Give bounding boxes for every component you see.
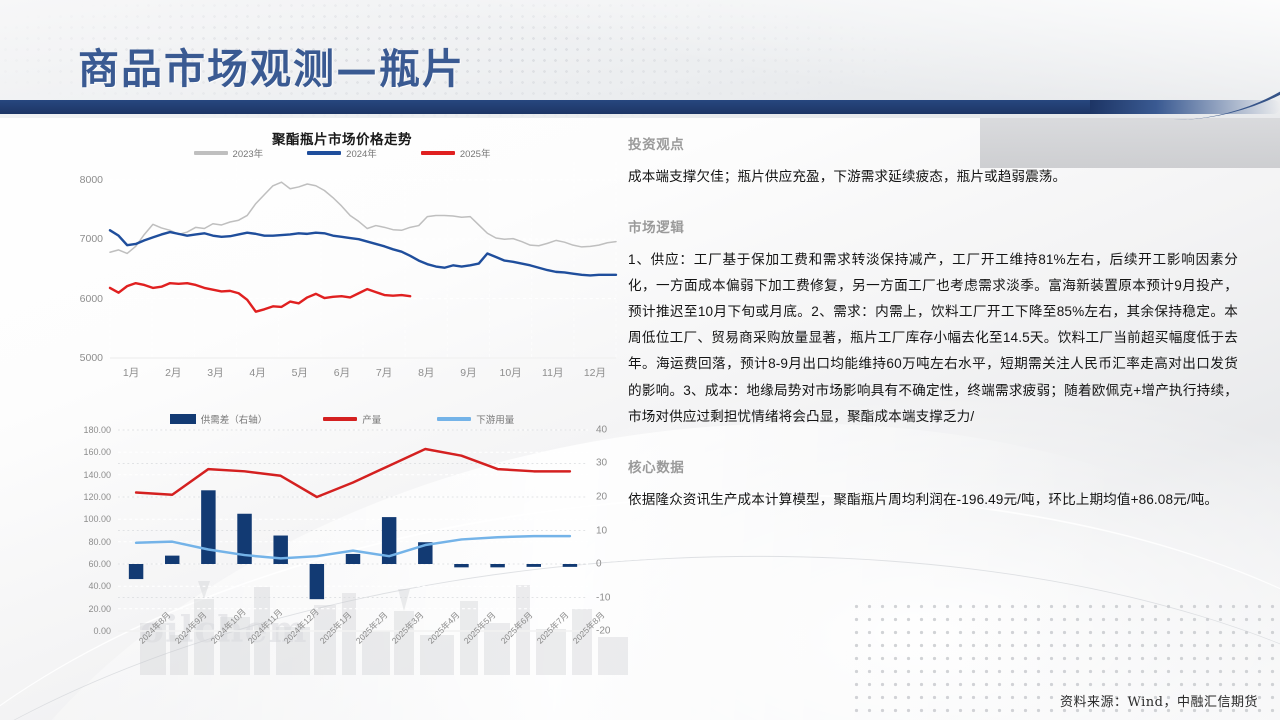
xtick-label: 3月 <box>207 365 223 380</box>
legend-swatch-supply-demand-gap <box>170 414 196 424</box>
ytick-label: 5000 <box>80 352 103 364</box>
ytick-label-right: -20 <box>596 626 610 637</box>
legend-label-downstream-usage: 下游用量 <box>476 412 514 426</box>
page-title: 商品市场观测—瓶片 <box>78 35 465 95</box>
header-accent-bar-tail <box>1090 100 1280 114</box>
legend-item-2025: 2025年 <box>421 146 491 160</box>
xtick-label: 12月 <box>584 365 606 380</box>
section-heading-investment-view: 投资观点 <box>628 133 1238 153</box>
ytick-label-left: 0.00 <box>93 626 111 636</box>
xtick-label: 7月 <box>376 365 392 380</box>
ytick-label-right: 0 <box>596 558 602 569</box>
ytick-label-left: 140.00 <box>83 470 111 480</box>
legend-swatch-output <box>323 417 357 421</box>
xtick-label: 6月 <box>334 365 350 380</box>
legend-swatch-2025 <box>421 151 455 155</box>
legend-item-2023: 2023年 <box>194 146 264 160</box>
ytick-label-left: 180.00 <box>83 425 111 435</box>
legend-swatch-downstream-usage <box>437 417 471 421</box>
ytick-label-left: 80.00 <box>88 537 111 547</box>
xtick-label: 1月 <box>123 365 139 380</box>
legend-swatch-2024 <box>307 151 341 155</box>
chart-supply-demand-legend: 供需差（右轴） 产量 下游用量 <box>62 412 622 426</box>
ytick-label-right: -10 <box>596 592 610 603</box>
ytick-label-left: 160.00 <box>83 447 111 457</box>
xtick-label: 10月 <box>499 365 521 380</box>
chart-supply-demand-svg <box>118 430 588 631</box>
ytick-label-right: 40 <box>596 425 607 436</box>
legend-item-output: 产量 <box>323 412 381 426</box>
ytick-label-right: 20 <box>596 491 607 502</box>
xtick-label: 9月 <box>460 365 476 380</box>
chart-price-trend-svg <box>110 162 616 358</box>
ytick-label: 8000 <box>80 174 103 186</box>
legend-label-2024: 2024年 <box>346 146 377 160</box>
section-body-investment-view: 成本端支撑欠佳；瓶片供应充盈，下游需求延续疲态，瓶片或趋弱震荡。 <box>628 164 1238 190</box>
section-body-core-data: 依据隆众资讯生产成本计算模型，聚酯瓶片周均利润在-196.49元/吨，环比上期均… <box>628 487 1238 513</box>
chart-price-trend-plot: 5000600070008000 1月2月3月4月5月6月7月8月9月10月11… <box>110 162 616 358</box>
section-body-market-logic: 1、供应：工厂基于保加工费和需求转淡保持减产，工厂开工维持81%左右，后续开工影… <box>628 247 1238 430</box>
ytick-label-left: 20.00 <box>88 604 111 614</box>
header-accent-bar <box>0 100 1130 114</box>
section-heading-market-logic: 市场逻辑 <box>628 216 1238 236</box>
ytick-label-left: 40.00 <box>88 581 111 591</box>
ytick-label-left: 120.00 <box>83 492 111 502</box>
chart-price-trend: 聚酯瓶片市场价格走势 2023年 2024年 2025年 50006000700… <box>62 128 622 398</box>
xtick-label: 5月 <box>292 365 308 380</box>
legend-item-supply-demand-gap: 供需差（右轴） <box>170 412 268 426</box>
chart-price-trend-legend: 2023年 2024年 2025年 <box>62 146 622 160</box>
slide-root: 商品市场观测—瓶片 聚酯瓶片市场价格走势 2023年 2024年 2025年 5… <box>0 0 1280 720</box>
xtick-label: 4月 <box>249 365 265 380</box>
ytick-label: 6000 <box>80 293 103 305</box>
ytick-label-right: 30 <box>596 458 607 469</box>
legend-item-2024: 2024年 <box>307 146 377 160</box>
legend-item-downstream-usage: 下游用量 <box>437 412 514 426</box>
legend-label-2025: 2025年 <box>460 146 491 160</box>
chart-supply-demand: 供需差（右轴） 产量 下游用量 <box>62 408 622 693</box>
legend-label-output: 产量 <box>362 412 381 426</box>
xtick-label: 8月 <box>418 365 434 380</box>
section-heading-core-data: 核心数据 <box>628 456 1238 476</box>
source-footer: 资料来源：Wind，中融汇信期货 <box>1060 691 1258 710</box>
ytick-label-right: 10 <box>596 525 607 536</box>
legend-swatch-2023 <box>194 151 228 155</box>
analysis-panel: 投资观点 成本端支撑欠佳；瓶片供应充盈，下游需求延续疲态，瓶片或趋弱震荡。 市场… <box>628 133 1238 513</box>
ytick-label-left: 60.00 <box>88 559 111 569</box>
chart-price-trend-title: 聚酯瓶片市场价格走势 <box>62 128 622 148</box>
legend-label-2023: 2023年 <box>233 146 264 160</box>
xtick-label: 2月 <box>165 365 181 380</box>
chart-supply-demand-plot: 0.0020.0040.0060.0080.00100.00120.00140.… <box>118 430 588 631</box>
ytick-label: 7000 <box>80 233 103 245</box>
xtick-label: 11月 <box>542 365 563 380</box>
ytick-label-left: 100.00 <box>83 514 111 524</box>
legend-label-supply-demand-gap: 供需差（右轴） <box>201 412 268 426</box>
